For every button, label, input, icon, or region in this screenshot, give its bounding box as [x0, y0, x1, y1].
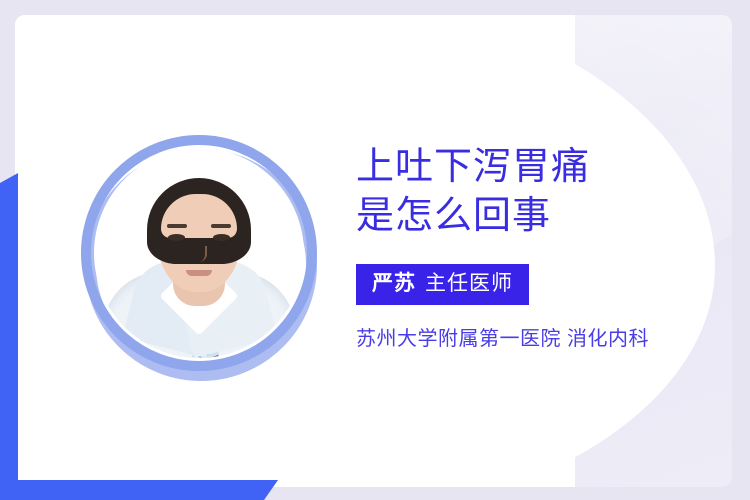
- avatar: [81, 135, 321, 375]
- text-column: 上吐下泻胃痛 是怎么回事 严苏主任医师 苏州大学附属第一医院 消化内科: [356, 143, 716, 352]
- doctor-name: 严苏: [372, 272, 416, 295]
- accent-bar-left: [0, 173, 18, 500]
- portrait-eye-left: [168, 234, 185, 241]
- accent-bar-bottom: [0, 480, 278, 500]
- poster-canvas: 上吐下泻胃痛 是怎么回事 严苏主任医师 苏州大学附属第一医院 消化内科: [0, 0, 750, 500]
- poster-card: 上吐下泻胃痛 是怎么回事 严苏主任医师 苏州大学附属第一医院 消化内科: [15, 15, 732, 487]
- portrait-mouth: [186, 270, 212, 276]
- doctor-credential-badge: 严苏主任医师: [356, 264, 529, 305]
- portrait-eyebrow-right: [211, 224, 231, 228]
- doctor-affiliation: 苏州大学附属第一医院 消化内科: [356, 326, 716, 352]
- doctor-title: 主任医师: [425, 272, 513, 295]
- doctor-portrait-photo: [94, 148, 304, 358]
- portrait-eyebrow-left: [167, 224, 187, 228]
- portrait-eye-right: [213, 234, 230, 241]
- page-title: 上吐下泻胃痛 是怎么回事: [356, 143, 716, 241]
